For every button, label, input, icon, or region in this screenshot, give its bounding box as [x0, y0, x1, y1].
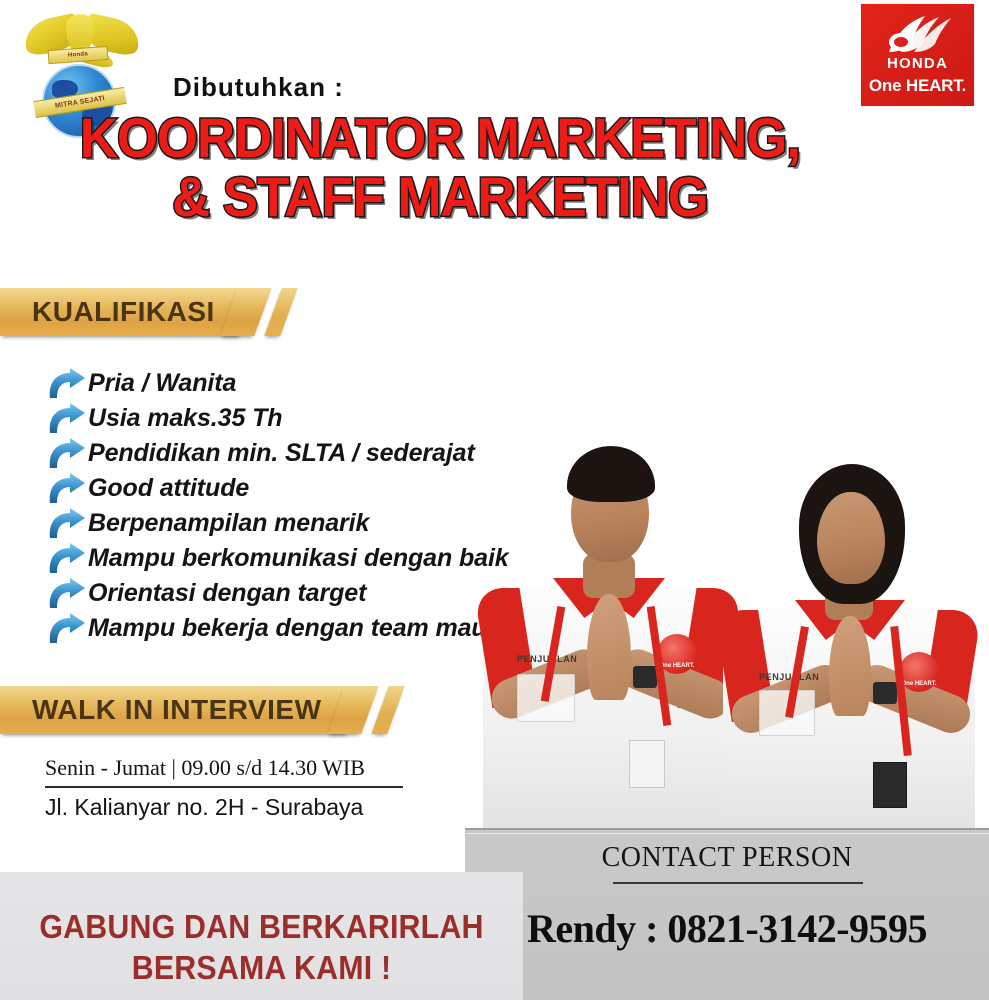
walkin-divider [45, 786, 403, 788]
contact-phone[interactable]: Rendy : 0821-3142-9595 [465, 905, 989, 952]
male-hair [567, 446, 655, 502]
walkin-time: Senin - Jumat | 09.00 s/d 14.30 WIB [45, 755, 445, 781]
walkin-banner: WALK IN INTERVIEW [0, 686, 396, 734]
male-wristwatch [633, 666, 657, 688]
list-item-label: Mampu berkomunikasi dengan baik [88, 544, 509, 573]
curved-arrow-icon [44, 542, 88, 576]
job-vacancy-poster: Honda MITRA SEJATI HONDA One HEART. Dibu… [0, 0, 989, 1000]
curved-arrow-icon [44, 507, 88, 541]
female-wristwatch [873, 682, 897, 704]
curved-arrow-icon [44, 472, 88, 506]
curved-arrow-icon [44, 437, 88, 471]
male-id-badge [629, 740, 665, 788]
female-uniform-label: PENJUALAN [759, 672, 819, 682]
female-staff-figure: PENJUALAN One HEART. [713, 418, 989, 830]
heading-block: Dibutuhkan : KOORDINATOR MARKETING, & ST… [0, 72, 880, 225]
patch-text: One HEART. [659, 663, 694, 669]
list-item-label: Berpenampilan menarik [88, 509, 369, 538]
tagline-line-2: BERSAMA KAMI ! [21, 949, 502, 987]
list-item-label: Good attitude [88, 474, 249, 503]
honda-wordmark: HONDA [861, 55, 974, 72]
tagline-line-1: GABUNG DAN BERKARIRLAH [21, 908, 502, 946]
qualifications-banner-label: KUALIFIKASI [0, 296, 241, 328]
patch-text: One HEART. [901, 681, 936, 687]
staff-photo: PENJUALAN One HEART. PENJUALAN One HEART… [455, 418, 989, 830]
walkin-address: Jl. Kalianyar no. 2H - Surabaya [45, 794, 445, 821]
contact-title: CONTACT PERSON [465, 842, 989, 874]
contact-panel: CONTACT PERSON Rendy : 0821-3142-9595 [465, 828, 989, 1000]
list-item-label: Pendidikan min. SLTA / sederajat [88, 439, 475, 468]
curved-arrow-icon [44, 402, 88, 436]
honda-wing-icon [881, 12, 955, 56]
contact-title-underline [613, 882, 863, 884]
walkin-details: Senin - Jumat | 09.00 s/d 14.30 WIB Jl. … [45, 755, 445, 821]
list-item-label: Usia maks.35 Th [88, 404, 282, 433]
contact-panel-top-line [465, 833, 989, 834]
job-title-line-1: KOORDINATOR MARKETING, [26, 111, 853, 166]
tagline-panel: GABUNG DAN BERKARIRLAH BERSAMA KAMI ! [0, 872, 523, 1000]
female-face [817, 492, 885, 584]
list-item: Pria / Wanita [44, 366, 604, 401]
walkin-banner-label: WALK IN INTERVIEW [0, 694, 348, 726]
male-staff-figure: PENJUALAN One HEART. [475, 418, 745, 830]
dibutuhkan-label: Dibutuhkan : [173, 72, 880, 103]
list-item-label: Orientasi dengan target [88, 579, 366, 608]
list-item-label: Pria / Wanita [88, 369, 236, 398]
female-id-badge [873, 762, 907, 808]
curved-arrow-icon [44, 612, 88, 646]
job-title-line-2: & STAFF MARKETING [26, 170, 853, 225]
qualifications-banner-bar: KUALIFIKASI [0, 288, 241, 336]
curved-arrow-icon [44, 577, 88, 611]
walkin-banner-bar: WALK IN INTERVIEW [0, 686, 348, 734]
qualifications-banner: KUALIFIKASI [0, 288, 289, 336]
curved-arrow-icon [44, 367, 88, 401]
female-oneheart-patch: One HEART. [899, 652, 939, 692]
